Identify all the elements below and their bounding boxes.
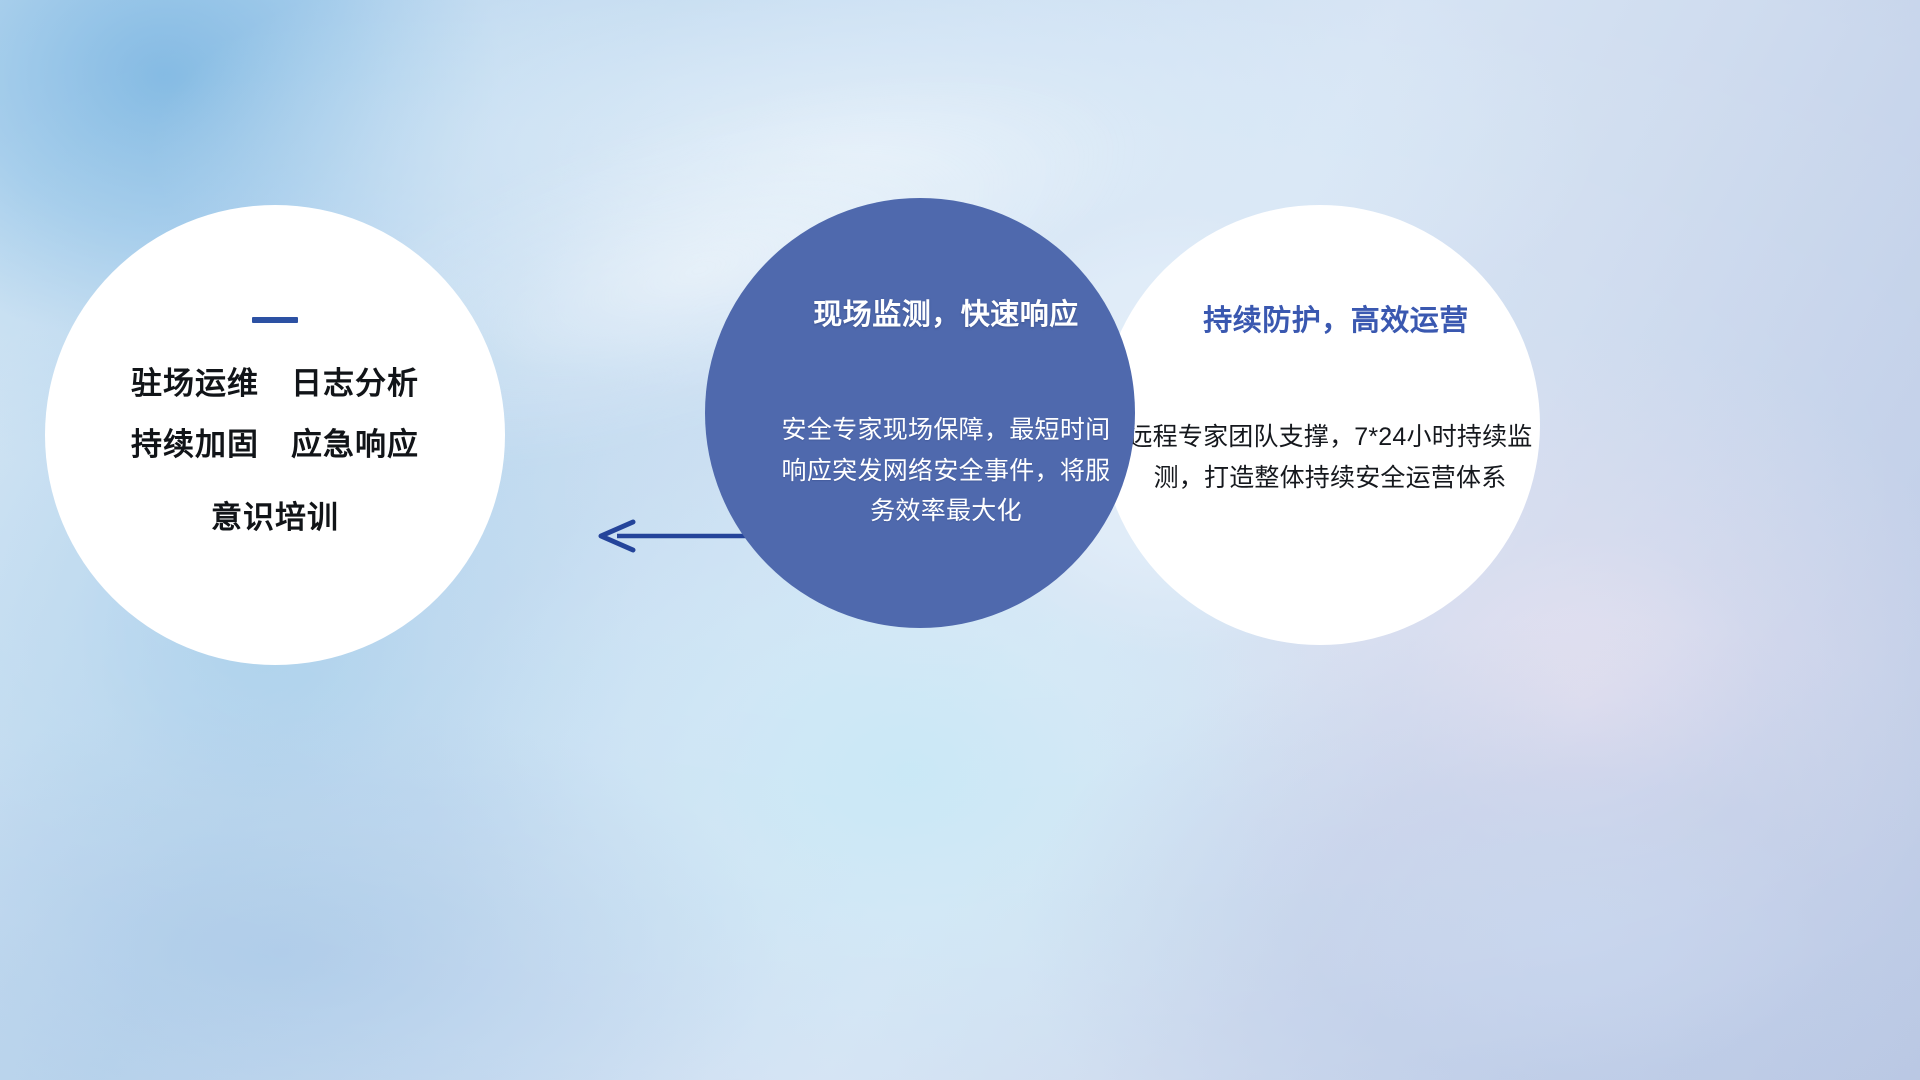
onsite-monitoring-circle[interactable]: 现场监测，快速响应 安全专家现场保障，最短时间响应突发网络安全事件，将服务效率最… xyxy=(705,198,1135,628)
continuous-protection-body: 远程专家团队支撑，7*24小时持续监测，打造整体持续安全运营体系 xyxy=(1118,417,1542,498)
continuous-protection-heading: 持续防护，高效运营 xyxy=(1116,297,1556,339)
onsite-monitoring-heading: 现场监测，快速响应 xyxy=(731,291,1161,333)
capability-line-1: 驻场运维 日志分析 xyxy=(131,368,419,399)
onsite-monitoring-body: 安全专家现场保障，最短时间响应突发网络安全事件，将服务效率最大化 xyxy=(776,410,1116,532)
capabilities-content: 驻场运维 日志分析 持续加固 应急响应 意识培训 xyxy=(45,205,505,665)
capabilities-circle[interactable]: 驻场运维 日志分析 持续加固 应急响应 意识培训 xyxy=(45,205,505,665)
capability-line-2: 持续加固 应急响应 xyxy=(131,429,419,460)
continuous-protection-circle[interactable]: 持续防护，高效运营 远程专家团队支撑，7*24小时持续监测，打造整体持续安全运营… xyxy=(1100,205,1540,645)
continuous-protection-content: 持续防护，高效运营 远程专家团队支撑，7*24小时持续监测，打造整体持续安全运营… xyxy=(1100,205,1540,645)
accent-dash xyxy=(252,317,298,323)
onsite-monitoring-content: 现场监测，快速响应 安全专家现场保障，最短时间响应突发网络安全事件，将服务效率最… xyxy=(705,198,1135,628)
capability-line-3: 意识培训 xyxy=(211,502,339,533)
slide-canvas: 驻场运维 日志分析 持续加固 应急响应 意识培训 持续防护，高效运营 远程专家团… xyxy=(0,0,1920,1080)
